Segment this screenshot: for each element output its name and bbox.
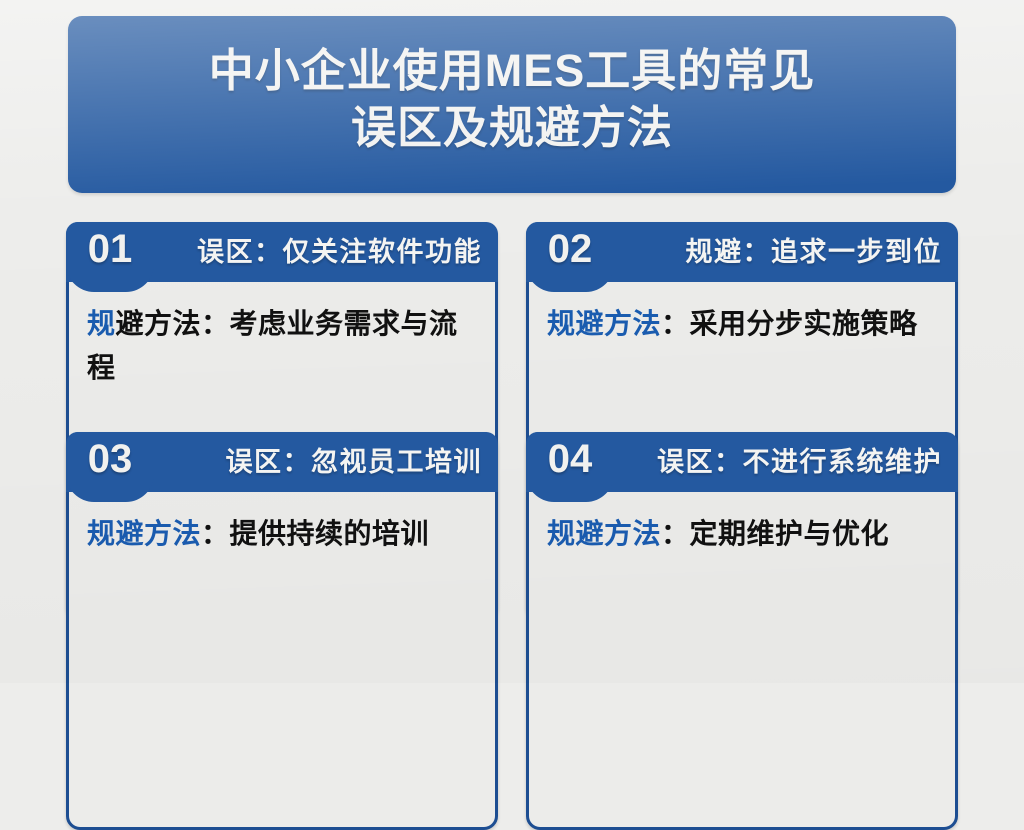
card-03-body-rest: ：提供持续的培训	[201, 518, 429, 549]
card-02-body-rest: ：采用分步实施策略	[661, 308, 918, 339]
card-04-number: 04	[548, 438, 593, 480]
card-04-body-highlight: 规避方法	[547, 518, 661, 549]
card-04[interactable]: 误区：不进行系统维护 04 规避方法：定期维护与优化	[526, 432, 958, 830]
card-03-body-highlight: 规避方法	[87, 518, 201, 549]
card-04-body: 规避方法：定期维护与优化	[529, 492, 955, 827]
card-02-body-highlight: 规避方法	[547, 308, 661, 339]
card-03-header-label: 误区：忽视员工培训	[226, 449, 483, 476]
card-04-number-badge: 04	[526, 432, 614, 502]
infographic-poster: 中小企业使用MES工具的常见 误区及规避方法 误区：仅关注软件功能 01 规避方…	[0, 0, 1024, 683]
card-01-body-rest: 避方法：考虑业务需求与流程	[87, 308, 458, 383]
card-01-body-text: 规避方法：考虑业务需求与流程	[87, 302, 481, 390]
card-02-body-text: 规避方法：采用分步实施策略	[547, 302, 941, 346]
card-03-body: 规避方法：提供持续的培训	[69, 492, 495, 827]
card-01-header-label: 误区：仅关注软件功能	[197, 239, 482, 266]
card-03-body-text: 规避方法：提供持续的培训	[87, 512, 481, 556]
card-02-number: 02	[548, 228, 593, 270]
card-04-body-text: 规避方法：定期维护与优化	[547, 512, 941, 556]
card-01-number-badge: 01	[66, 222, 154, 292]
page-title: 中小企业使用MES工具的常见 误区及规避方法	[209, 43, 816, 156]
card-03-number-badge: 03	[66, 432, 154, 502]
card-03[interactable]: 误区：忽视员工培训 03 规避方法：提供持续的培训	[66, 432, 498, 830]
card-01-body-highlight: 规	[87, 308, 116, 339]
title-banner: 中小企业使用MES工具的常见 误区及规避方法	[68, 16, 956, 193]
card-01-number: 01	[88, 228, 133, 270]
card-02-number-badge: 02	[526, 222, 614, 292]
card-04-body-rest: ：定期维护与优化	[661, 518, 889, 549]
card-02-header-label: 规避：追求一步到位	[686, 239, 943, 266]
card-04-header-label: 误区：不进行系统维护	[657, 449, 942, 476]
card-03-number: 03	[88, 438, 133, 480]
